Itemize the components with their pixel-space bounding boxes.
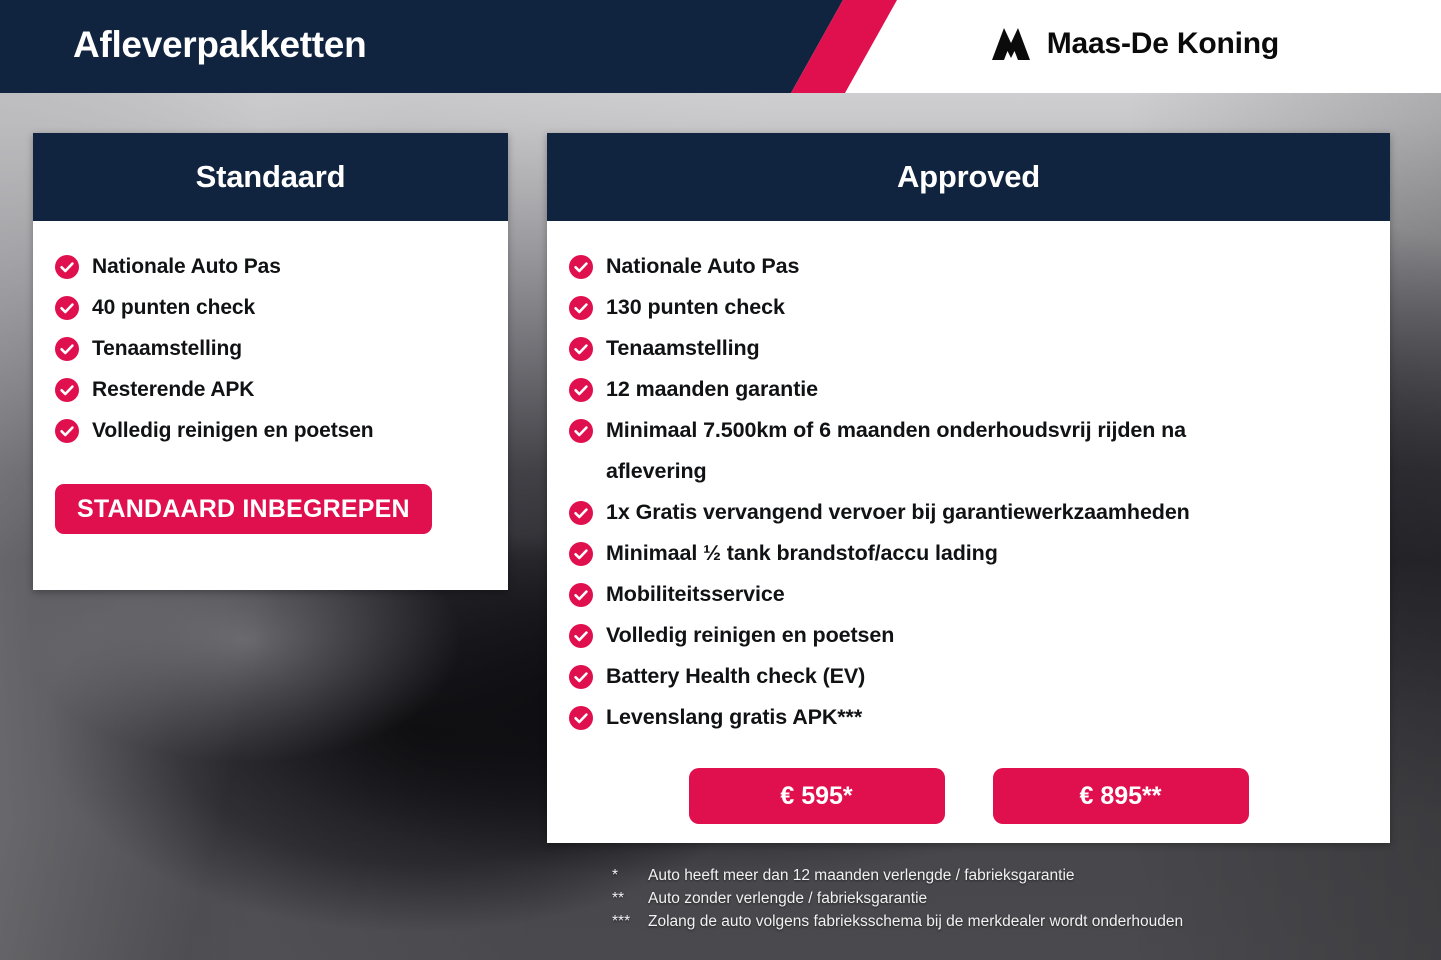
check-circle-icon (569, 665, 593, 689)
check-circle-icon (569, 706, 593, 730)
list-item: Tenaamstelling (547, 328, 1390, 369)
list-item: 1x Gratis vervangend vervoer bij garanti… (547, 492, 1390, 533)
feature-label: Resterende APK (92, 369, 254, 410)
feature-label: Battery Health check (EV) (606, 656, 865, 697)
price-button-895[interactable]: € 895** (993, 768, 1249, 824)
check-circle-icon (55, 419, 79, 443)
check-circle-icon (569, 296, 593, 320)
check-circle-icon (569, 501, 593, 525)
footnote-marker: *** (612, 910, 648, 933)
list-item: Nationale Auto Pas (547, 246, 1390, 287)
feature-label: Minimaal 7.500km of 6 maanden onderhouds… (606, 410, 1246, 492)
feature-label: Nationale Auto Pas (92, 246, 281, 287)
feature-list-standaard: Nationale Auto Pas 40 punten check Tenaa… (33, 221, 508, 534)
feature-label: 1x Gratis vervangend vervoer bij garanti… (606, 492, 1190, 533)
price-button-595[interactable]: € 595* (689, 768, 945, 824)
list-item: Volledig reinigen en poetsen (547, 615, 1390, 656)
list-item: Minimaal 7.500km of 6 maanden onderhouds… (547, 410, 1390, 492)
feature-label: Volledig reinigen en poetsen (606, 615, 894, 656)
list-item: Battery Health check (EV) (547, 656, 1390, 697)
list-item: Resterende APK (33, 369, 508, 410)
feature-label: Volledig reinigen en poetsen (92, 410, 374, 451)
feature-label: 40 punten check (92, 287, 255, 328)
footnote-text: Auto zonder verlengde / fabrieksgarantie (648, 887, 927, 910)
list-item: Tenaamstelling (33, 328, 508, 369)
footnote-triple-asterisk: *** Zolang de auto volgens fabrieksschem… (612, 910, 1412, 933)
check-circle-icon (569, 583, 593, 607)
footnote-single-asterisk: * Auto heeft meer dan 12 maanden verleng… (612, 864, 1412, 887)
feature-label: Levenslang gratis APK*** (606, 697, 862, 738)
package-header-approved: Approved (547, 133, 1390, 221)
poster-canvas: Afleverpakketten Maas-De Koning Standaar… (0, 0, 1441, 960)
list-item: Mobiliteitsservice (547, 574, 1390, 615)
check-circle-icon (569, 337, 593, 361)
feature-label: Tenaamstelling (92, 328, 242, 369)
footnote-marker: * (612, 864, 648, 887)
page-title: Afleverpakketten (73, 24, 366, 66)
package-header-standaard: Standaard (33, 133, 508, 221)
check-circle-icon (569, 542, 593, 566)
package-card-standaard: Standaard Nationale Auto Pas 40 punten c… (33, 133, 508, 590)
list-item: Volledig reinigen en poetsen (33, 410, 508, 451)
package-title-standaard: Standaard (196, 159, 346, 195)
feature-label: Tenaamstelling (606, 328, 760, 369)
price-button-row: € 595* € 895** (547, 738, 1390, 824)
check-circle-icon (569, 419, 593, 443)
maas-de-koning-m-logo-icon (990, 27, 1032, 61)
footnote-text: Auto heeft meer dan 12 maanden verlengde… (648, 864, 1075, 887)
cta-container-standaard: STANDAARD INBEGREPEN (33, 451, 508, 534)
brand-lockup: Maas-De Koning (990, 27, 1279, 61)
footnote-marker: ** (612, 887, 648, 910)
check-circle-icon (569, 255, 593, 279)
standaard-inbegrepen-button[interactable]: STANDAARD INBEGREPEN (55, 484, 432, 534)
list-item: 12 maanden garantie (547, 369, 1390, 410)
page-header: Afleverpakketten Maas-De Koning (0, 0, 1441, 93)
list-item: 40 punten check (33, 287, 508, 328)
feature-label: Minimaal ½ tank brandstof/accu lading (606, 533, 998, 574)
check-circle-icon (55, 296, 79, 320)
footnote-double-asterisk: ** Auto zonder verlengde / fabrieksgaran… (612, 887, 1412, 910)
list-item: Nationale Auto Pas (33, 246, 508, 287)
list-item: Levenslang gratis APK*** (547, 697, 1390, 738)
footnote-text: Zolang de auto volgens fabrieksschema bi… (648, 910, 1183, 933)
check-circle-icon (55, 255, 79, 279)
package-card-approved: Approved Nationale Auto Pas 130 punten c… (547, 133, 1390, 843)
feature-label: Mobiliteitsservice (606, 574, 785, 615)
list-item: 130 punten check (547, 287, 1390, 328)
feature-label: 130 punten check (606, 287, 785, 328)
feature-label: 12 maanden garantie (606, 369, 818, 410)
check-circle-icon (55, 337, 79, 361)
check-circle-icon (569, 378, 593, 402)
footnotes: * Auto heeft meer dan 12 maanden verleng… (612, 864, 1412, 933)
package-title-approved: Approved (897, 159, 1040, 195)
feature-list-approved: Nationale Auto Pas 130 punten check Tena… (547, 221, 1390, 824)
check-circle-icon (569, 624, 593, 648)
list-item: Minimaal ½ tank brandstof/accu lading (547, 533, 1390, 574)
feature-label: Nationale Auto Pas (606, 246, 799, 287)
brand-name: Maas-De Koning (1047, 27, 1279, 61)
check-circle-icon (55, 378, 79, 402)
